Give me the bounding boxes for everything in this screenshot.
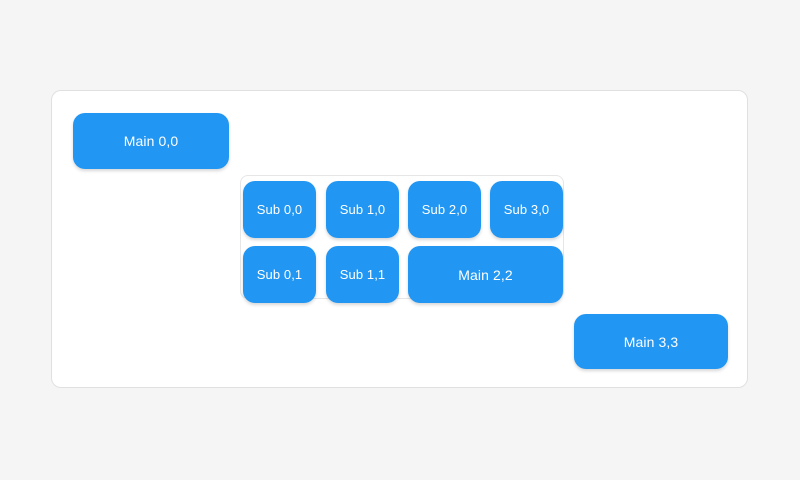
- tile-sub-1-1-label: Sub 1,1: [340, 268, 386, 281]
- tile-main-3-3-label: Main 3,3: [624, 335, 679, 349]
- tile-main-0-0[interactable]: Main 0,0: [73, 113, 229, 169]
- tile-sub-1-0[interactable]: Sub 1,0: [326, 181, 399, 238]
- tile-sub-1-0-label: Sub 1,0: [340, 203, 386, 216]
- tile-sub-2-0[interactable]: Sub 2,0: [408, 181, 481, 238]
- tile-main-2-2[interactable]: Main 2,2: [408, 246, 563, 303]
- tile-sub-0-0[interactable]: Sub 0,0: [243, 181, 316, 238]
- tile-sub-0-1[interactable]: Sub 0,1: [243, 246, 316, 303]
- tile-main-3-3[interactable]: Main 3,3: [574, 314, 728, 369]
- main-grid-container: Main 0,0 Sub 0,0 Sub 1,0 Sub 2,0 Sub 3,0…: [51, 90, 748, 388]
- tile-sub-3-0[interactable]: Sub 3,0: [490, 181, 563, 238]
- tile-sub-2-0-label: Sub 2,0: [422, 203, 468, 216]
- tile-sub-0-0-label: Sub 0,0: [257, 203, 303, 216]
- tile-sub-3-0-label: Sub 3,0: [504, 203, 550, 216]
- tile-sub-1-1[interactable]: Sub 1,1: [326, 246, 399, 303]
- stage: Main 0,0 Sub 0,0 Sub 1,0 Sub 2,0 Sub 3,0…: [0, 0, 800, 480]
- tile-main-2-2-label: Main 2,2: [458, 268, 513, 282]
- tile-main-0-0-label: Main 0,0: [124, 134, 179, 148]
- sub-grid-container: Sub 0,0 Sub 1,0 Sub 2,0 Sub 3,0 Sub 0,1 …: [240, 175, 564, 299]
- tile-sub-0-1-label: Sub 0,1: [257, 268, 303, 281]
